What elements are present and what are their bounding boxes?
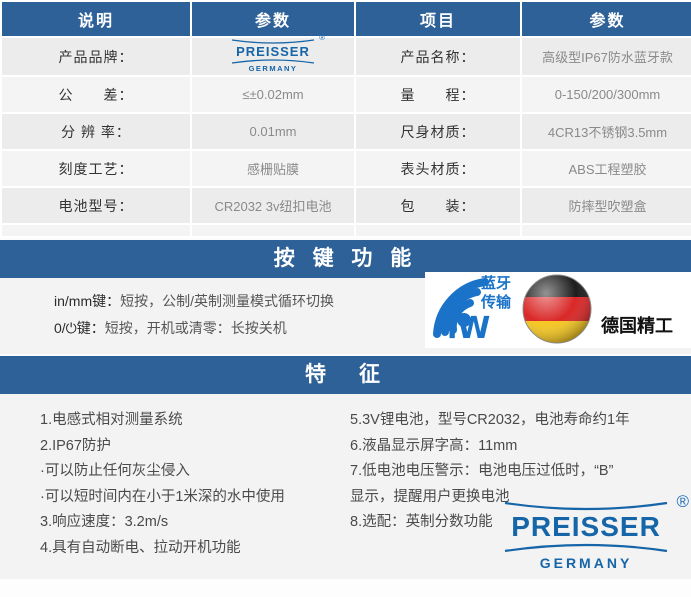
- spec-value: ≤±0.02mm: [192, 77, 354, 112]
- feature-item: 7.低电池电压警示：电池电压过低时，“B”: [350, 459, 630, 485]
- table-header-cell-3: 项目: [356, 2, 520, 36]
- features-panel: 1.电感式相对测量系统 2.IP67防护 ·可以防止任何灰尘侵入 ·可以短时间内…: [0, 394, 691, 579]
- brand-logo-cell: PREISSER GERMANY ®: [192, 38, 354, 75]
- spec-label: 产品名称：: [356, 38, 520, 75]
- logo-wordmark: PREISSER: [230, 45, 316, 58]
- feature-item: 1.电感式相对测量系统: [40, 408, 285, 434]
- spec-value: 0-150/200/300mm: [522, 77, 691, 112]
- spec-value: CR2032 3v纽扣电池: [192, 188, 354, 223]
- feature-item: ·可以防止任何灰尘侵入: [40, 459, 285, 485]
- key-function-line: 0/⏻键：短按，开机或清零：长按关机: [54, 315, 334, 342]
- spec-label: 刻度工艺：: [2, 151, 190, 186]
- specification-table: 说明 参数 项目 参数 产品品牌： PREISSER: [0, 0, 691, 238]
- product-spec-page: 说明 参数 项目 参数 产品品牌： PREISSER: [0, 0, 691, 597]
- feature-item: 6.液晶显示屏字高：11mm: [350, 434, 630, 460]
- preisser-logo: PREISSER GERMANY ®: [230, 39, 316, 73]
- made-in-germany-label: 德国精工: [601, 312, 673, 338]
- table-header-row: 说明 参数 项目 参数: [2, 2, 691, 36]
- spec-label: 电池型号：: [2, 188, 190, 223]
- spec-label: 表头材质：: [356, 151, 520, 186]
- logo-subtext: GERMANY: [230, 65, 316, 73]
- table-header-cell-1: 说明: [2, 2, 190, 36]
- features-left-column: 1.电感式相对测量系统 2.IP67防护 ·可以防止任何灰尘侵入 ·可以短时间内…: [40, 408, 285, 561]
- table-row: 电池型号： CR2032 3v纽扣电池 包 装： 防摔型吹塑盒: [2, 188, 691, 223]
- key-function-line: in/mm键：短按，公制/英制测量模式循环切换: [54, 288, 334, 315]
- spec-value: 防摔型吹塑盒: [522, 188, 691, 223]
- partial-cell: [356, 225, 520, 236]
- partial-cell: [192, 225, 354, 236]
- logo-registered-icon: ®: [676, 493, 689, 510]
- partial-cell: [522, 225, 691, 236]
- spec-value: 4CR13不锈钢3.5mm: [522, 114, 691, 149]
- table-header-cell-2: 参数: [192, 2, 354, 36]
- partial-cell: [2, 225, 190, 236]
- bluetooth-label: 蓝牙 传输: [481, 274, 511, 312]
- feature-item: ·可以短时间内在小于1米深的水中使用: [40, 485, 285, 511]
- spec-value: 0.01mm: [192, 114, 354, 149]
- iw-wordmark: iW: [447, 314, 490, 344]
- bluetooth-label-line1: 蓝牙: [481, 274, 511, 293]
- spec-value: ABS工程塑胶: [522, 151, 691, 186]
- table-row-partial: [2, 225, 691, 236]
- spec-label: 量 程：: [356, 77, 520, 112]
- spec-value: 感栅贴膜: [192, 151, 354, 186]
- key-name: 0/⏻键：: [54, 320, 105, 336]
- key-desc: 短按，公制/英制测量模式循环切换: [120, 293, 334, 309]
- table-row: 公 差： ≤±0.02mm 量 程： 0-150/200/300mm: [2, 77, 691, 112]
- key-function-lines: in/mm键：短按，公制/英制测量模式循环切换 0/⏻键：短按，开机或清零：长按…: [54, 288, 334, 342]
- logo-wordmark: PREISSER: [501, 513, 671, 541]
- spec-value: 高级型IP67防水蓝牙款: [522, 38, 691, 75]
- logo-arc-bottom-icon: [501, 541, 671, 553]
- feature-item: 3.响应速度：3.2m/s: [40, 510, 285, 536]
- preisser-logo: PREISSER GERMANY ®: [501, 501, 671, 570]
- key-function-panel: in/mm键：短按，公制/英制测量模式循环切换 0/⏻键：短按，开机或清零：长按…: [0, 278, 691, 354]
- spec-label: 尺身材质：: [356, 114, 520, 149]
- logo-registered-icon: ®: [319, 34, 325, 42]
- table-row: 产品品牌： PREISSER GERMANY ® 产品名称：: [2, 38, 691, 75]
- spec-label: 分 辨 率：: [2, 114, 190, 149]
- preisser-logo-footer: PREISSER GERMANY ®: [501, 501, 671, 573]
- feature-item: 4.具有自动断电、拉动开机功能: [40, 536, 285, 562]
- table-row: 分 辨 率： 0.01mm 尺身材质： 4CR13不锈钢3.5mm: [2, 114, 691, 149]
- bluetooth-germany-badge: 蓝牙 传输 iW: [425, 272, 691, 348]
- feature-item: 2.IP67防护: [40, 434, 285, 460]
- spec-label: 公 差：: [2, 77, 190, 112]
- spec-label: 包 装：: [356, 188, 520, 223]
- spec-label: 产品品牌：: [2, 38, 190, 75]
- table-header-cell-4: 参数: [522, 2, 691, 36]
- key-desc: 短按，开机或清零：长按关机: [105, 320, 287, 336]
- table-row: 刻度工艺： 感栅贴膜 表头材质： ABS工程塑胶: [2, 151, 691, 186]
- bluetooth-label-line2: 传输: [481, 293, 511, 312]
- key-name: in/mm键：: [54, 293, 120, 309]
- german-flag-sphere-icon: [521, 273, 593, 345]
- feature-item: 5.3V锂电池，型号CR2032，电池寿命约1年: [350, 408, 630, 434]
- logo-subtext: GERMANY: [501, 556, 671, 570]
- section-band-features: 特 征: [0, 356, 691, 394]
